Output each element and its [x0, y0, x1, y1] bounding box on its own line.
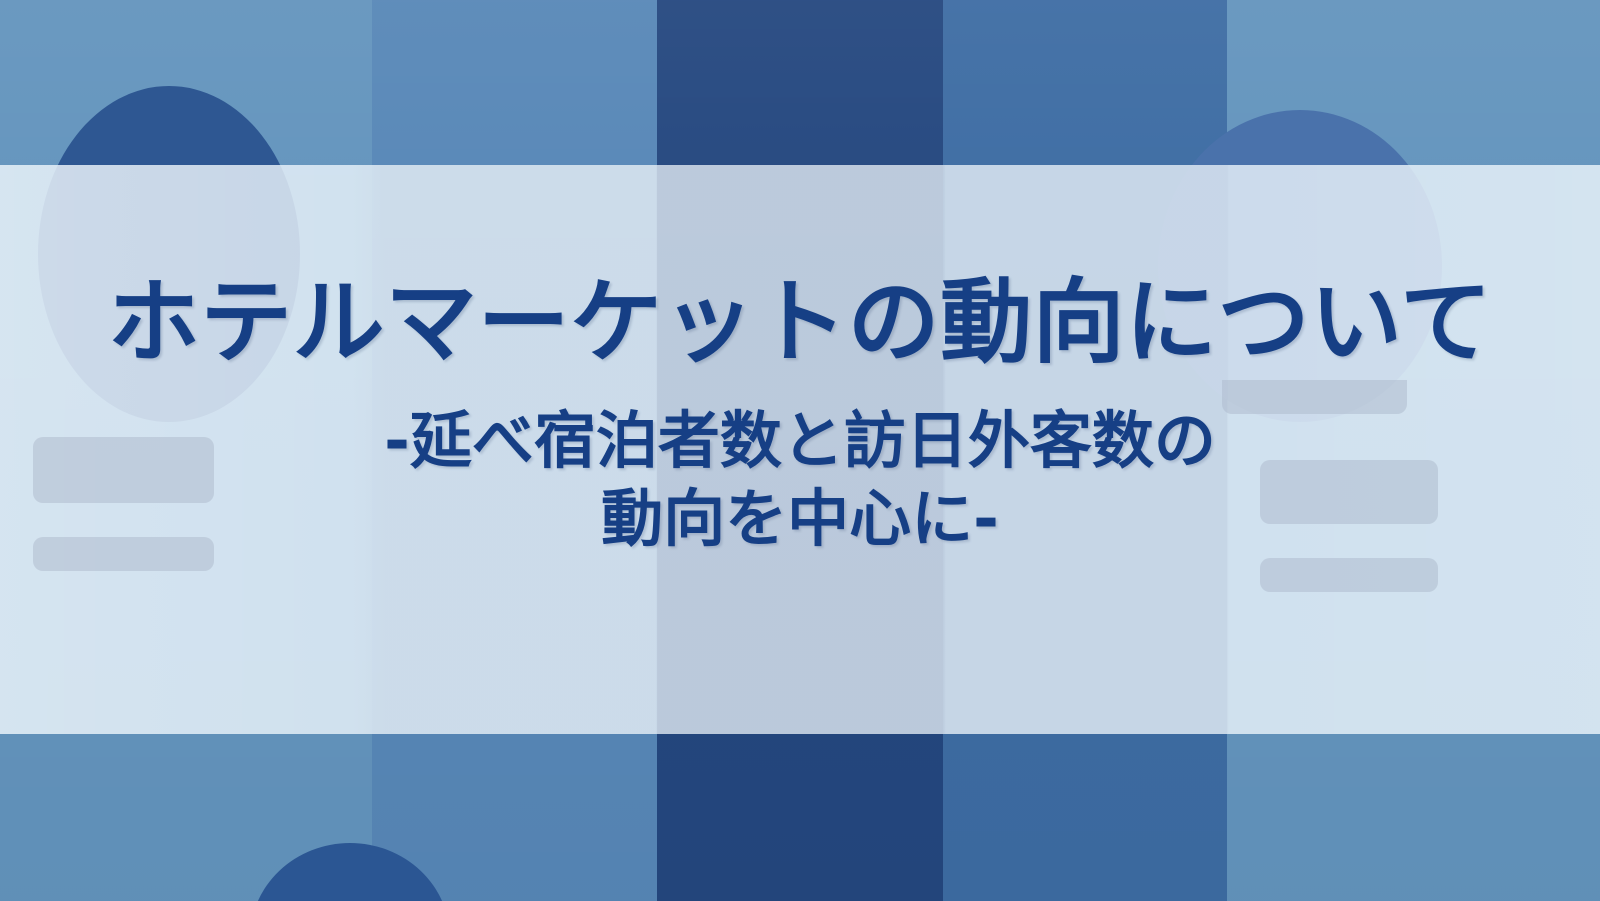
title-block: ホテルマーケットの動向について -延べ宿泊者数と訪日外客数の 動向を中心に-	[0, 165, 1600, 734]
slide-subtitle-line-1: -延べ宿泊者数と訪日外客数の	[384, 402, 1216, 480]
slide-title: ホテルマーケットの動向について	[108, 273, 1493, 372]
title-slide: ホテルマーケットの動向について -延べ宿泊者数と訪日外客数の 動向を中心に-	[0, 0, 1600, 901]
slide-subtitle-line-2: 動向を中心に-	[384, 480, 1216, 558]
slide-subtitle: -延べ宿泊者数と訪日外客数の 動向を中心に-	[384, 402, 1216, 558]
